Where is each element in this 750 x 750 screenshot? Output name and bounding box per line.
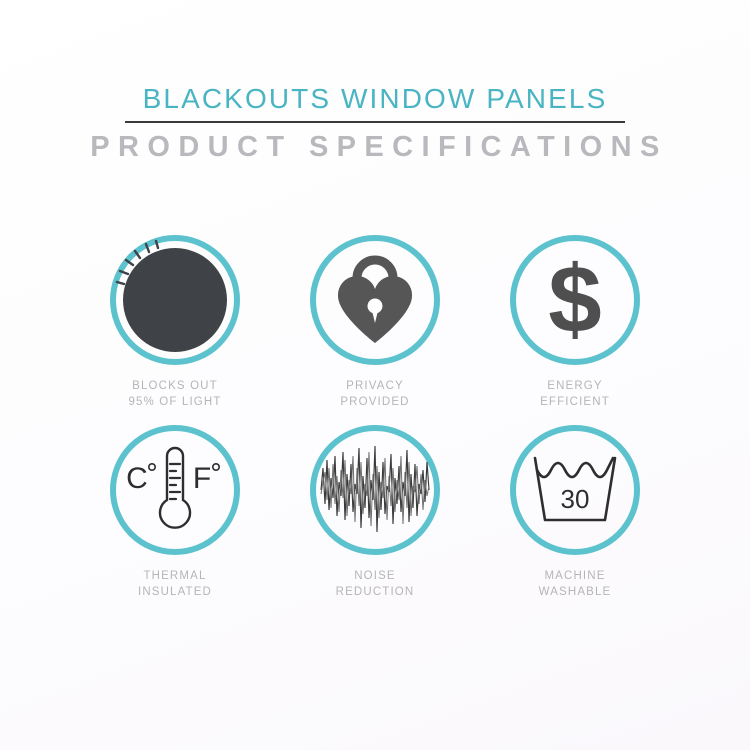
infographic-page: BLACKOUTS WINDOW PANELS PRODUCT SPECIFIC… [0, 0, 750, 750]
caption-line-2: REDUCTION [336, 584, 415, 600]
heart-padlock-icon [332, 253, 418, 347]
caption-line-1: NOISE [336, 568, 415, 584]
svg-text:$: $ [548, 246, 601, 353]
caption-line-1: ENERGY [540, 378, 610, 394]
caption-line-2: EFFICIENT [540, 394, 610, 410]
celsius-label: C [126, 462, 148, 495]
feature-caption: ENERGY EFFICIENT [540, 378, 610, 410]
feature-blocks-out-light: BLOCKS OUT 95% OF LIGHT [75, 235, 275, 425]
icon-ring: C F [110, 425, 240, 555]
caption-line-1: BLOCKS OUT [128, 378, 221, 394]
icon-ring [110, 235, 240, 365]
icon-ring [310, 235, 440, 365]
feature-thermal-insulated: C F THERMAL INSULATED [75, 425, 275, 615]
caption-line-2: PROVIDED [340, 394, 409, 410]
caption-line-2: 95% OF LIGHT [128, 394, 221, 410]
caption-line-2: INSULATED [138, 584, 212, 600]
blackout-circle-icon [116, 241, 234, 359]
sound-waveform-icon [319, 438, 431, 542]
wash-tub-icon: 30 [531, 452, 619, 528]
feature-energy-efficient: $ ENERGY EFFICIENT [475, 235, 675, 425]
feature-machine-washable: 30 MACHINE WASHABLE [475, 425, 675, 615]
feature-caption: THERMAL INSULATED [138, 568, 212, 600]
title-divider [125, 121, 625, 123]
wash-temperature-label: 30 [561, 484, 590, 514]
feature-grid: BLOCKS OUT 95% OF LIGHT PRIVACY PROVIDED [75, 235, 675, 615]
caption-line-1: THERMAL [138, 568, 212, 584]
dollar-sign-icon: $ [535, 252, 615, 348]
feature-caption: BLOCKS OUT 95% OF LIGHT [128, 378, 221, 410]
icon-ring: $ [510, 235, 640, 365]
caption-line-1: PRIVACY [340, 378, 409, 394]
icon-ring: 30 [510, 425, 640, 555]
feature-caption: MACHINE WASHABLE [539, 568, 612, 600]
caption-line-1: MACHINE [539, 568, 612, 584]
feature-caption: PRIVACY PROVIDED [340, 378, 409, 410]
feature-caption: NOISE REDUCTION [336, 568, 415, 600]
fahrenheit-label: F [193, 462, 211, 495]
feature-privacy-provided: PRIVACY PROVIDED [275, 235, 475, 425]
caption-line-2: WASHABLE [539, 584, 612, 600]
header: BLACKOUTS WINDOW PANELS PRODUCT SPECIFIC… [0, 82, 750, 165]
feature-noise-reduction: NOISE REDUCTION [275, 425, 475, 615]
page-subtitle: PRODUCT SPECIFICATIONS [0, 129, 750, 165]
icon-ring [310, 425, 440, 555]
thermometer-icon: C F [123, 444, 227, 536]
page-title: BLACKOUTS WINDOW PANELS [0, 82, 750, 116]
